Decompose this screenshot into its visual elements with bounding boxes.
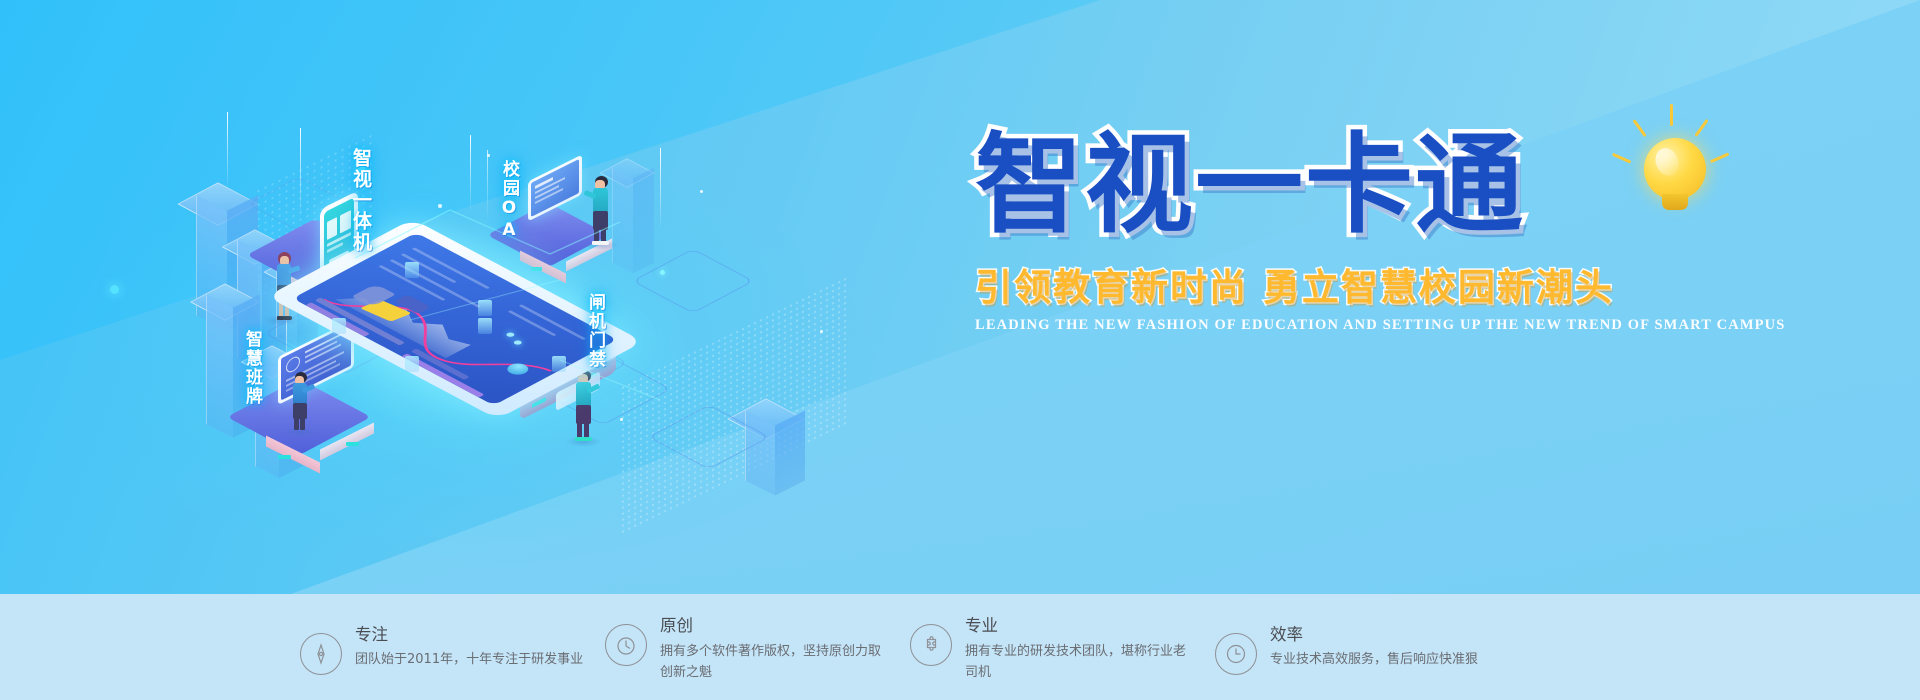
feature-desc: 团队始于2011年，十年专注于研发事业 (355, 649, 583, 670)
sparkle-dot (620, 418, 623, 421)
promo-banner: 智视一体机 校园OA 智慧班牌 闸机门禁 智视一卡通 引领教育新时尚 勇立智慧校… (0, 0, 1920, 700)
feature-item-focus: 专注 团队始于2011年，十年专注于研发事业 (300, 620, 600, 675)
building-antenna (227, 112, 228, 192)
tablet-corner-post (405, 356, 419, 372)
sparkle-dot (110, 285, 119, 294)
person-at-gate (570, 370, 598, 444)
tablet-corner-post (405, 262, 419, 278)
tablet-corner-post (478, 300, 492, 316)
lightbulb-icon (1612, 104, 1732, 234)
headline-block: 智视一卡通 引领教育新时尚 勇立智慧校园新潮头 LEADING THE NEW … (975, 128, 1595, 334)
page-title: 智视一卡通 (975, 128, 1595, 245)
person-at-classboard (288, 372, 314, 434)
feature-title: 专业 (965, 615, 1195, 637)
compass-icon (300, 633, 342, 675)
tablet-corner-post (478, 318, 492, 334)
building-antenna (470, 135, 471, 213)
person-man-at-monitor (588, 176, 616, 248)
tablet-corner-post (332, 318, 346, 334)
tablet-corner-post (552, 356, 566, 372)
feature-title: 原创 (660, 615, 890, 637)
feature-item-professional: 专业 拥有专业的研发技术团队，堪称行业老司机 (910, 611, 1210, 682)
feature-bar: 专注 团队始于2011年，十年专注于研发事业 原创 拥有多个软件著作版权，坚持原… (0, 594, 1920, 700)
feature-desc: 拥有专业的研发技术团队，堪称行业老司机 (965, 641, 1195, 683)
feature-desc: 拥有多个软件著作版权，坚持原创力取创新之魁 (660, 641, 890, 683)
sparkle-dot (820, 330, 823, 333)
label-gate-access-control: 闸机门禁 (583, 293, 608, 369)
stopwatch-icon (605, 624, 647, 666)
clock-icon (1215, 633, 1257, 675)
label-smart-all-in-one: 智视一体机 (348, 148, 375, 253)
feature-title: 效率 (1270, 624, 1478, 646)
puzzle-icon (910, 624, 952, 666)
feature-desc: 专业技术高效服务，售后响应快准狠 (1270, 649, 1478, 670)
subtitle-english: LEADING THE NEW FASHION OF EDUCATION AND… (975, 317, 1595, 334)
sparkle-dot (700, 190, 703, 193)
feature-item-original: 原创 拥有多个软件著作版权，坚持原创力取创新之魁 (605, 611, 905, 682)
sparkle-dot (438, 204, 442, 208)
subtitle-chinese: 引领教育新时尚 勇立智慧校园新潮头 (975, 257, 1595, 311)
label-campus-oa: 校园OA (497, 160, 522, 242)
label-smart-class-board: 智慧班牌 (240, 330, 265, 406)
building-antenna (487, 150, 488, 220)
building-antenna (660, 148, 661, 230)
feature-item-efficiency: 效率 专业技术高效服务，售后响应快准狠 (1215, 620, 1515, 675)
feature-title: 专注 (355, 624, 583, 646)
